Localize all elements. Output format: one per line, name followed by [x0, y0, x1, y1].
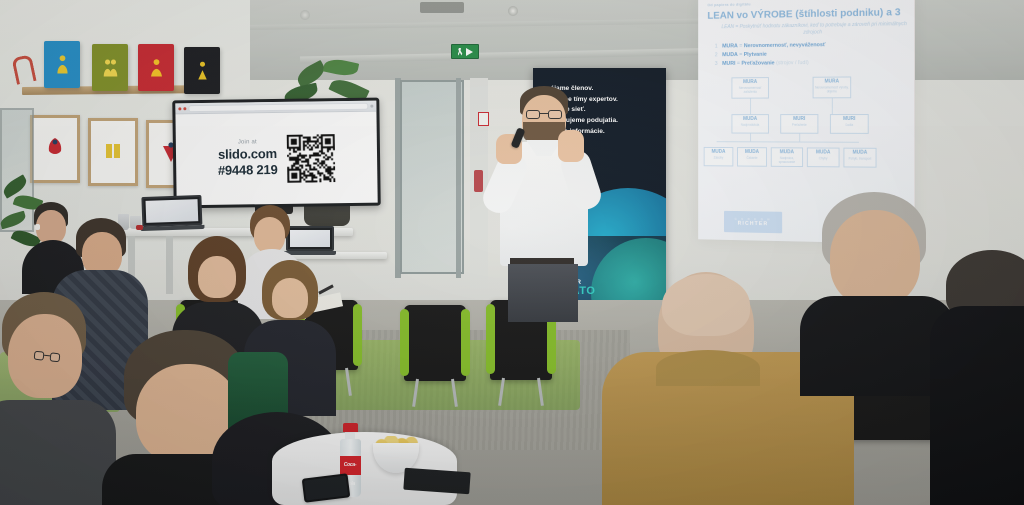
door-frame [456, 78, 461, 278]
bottle-label: Coca-Cola [340, 456, 361, 475]
diagram-box: MUDA Zásoby [704, 147, 734, 167]
glasses-lens [50, 352, 61, 362]
laptop[interactable] [141, 195, 202, 233]
eyeglasses [526, 110, 562, 119]
address-bar[interactable] [188, 102, 368, 112]
diagram-box: MUDA Pohyb, transport [843, 148, 876, 168]
certificate-art-icon [102, 138, 124, 166]
diagram-box-label: MURI [831, 116, 868, 122]
bullet-term: MUDA [722, 52, 738, 58]
diagram-box-detail: Nerovnomernosť zaťaženia [732, 86, 768, 94]
lean-diagram: MURA Nerovnomernosť zaťaženia MURA Nerov… [698, 76, 914, 206]
table-paper [403, 468, 470, 495]
phone-screen [304, 476, 348, 501]
diagram-box: MUDA Nadprodukcia [731, 114, 768, 133]
qr-code[interactable] [287, 134, 336, 183]
award-plaque-black [184, 47, 220, 94]
award-plaque-blue [44, 41, 80, 88]
list-item: 3MURI = Preťažovanie (strojov / ľudí) [715, 58, 908, 69]
diagram-box-detail: Preťaženie [781, 123, 817, 127]
award-plaque-olive [92, 44, 128, 91]
diagram-box-detail: Chyby [808, 156, 839, 160]
diagram-box-label: MURA [732, 79, 768, 85]
richter-logo: G E D E O N RICHTER [724, 211, 782, 233]
glass-door [400, 80, 464, 274]
earbud-icon [35, 224, 40, 230]
chair-green-edge [353, 304, 362, 366]
bottle-neck [345, 432, 355, 439]
diagram-box: MURA Nerovnomernosť výroby, objemu [813, 76, 852, 98]
framed-certificate [30, 115, 80, 183]
diagram-connector [717, 141, 859, 143]
glasses-bridge [540, 113, 548, 114]
head [272, 278, 308, 318]
chair-green-edge [461, 309, 470, 376]
diagram-connector [750, 99, 751, 115]
diagram-box: MUDA Čakanie [737, 147, 767, 167]
slide-title: LEAN vo VÝROBE (štíhlosti podniku) a 3 [707, 6, 908, 22]
chair-green-edge [400, 309, 409, 376]
tab-indicator-icon [183, 107, 186, 110]
glasses-lens [548, 110, 562, 119]
glasses-lens [526, 110, 540, 119]
slide-subtitle: LEAN = Poskytnúť hodnotu zákazníkovi, ke… [707, 21, 908, 38]
bullet-term: MURI [722, 61, 735, 67]
diagram-connector [750, 134, 751, 142]
hand-right [558, 130, 584, 162]
award-figure-icon [54, 54, 71, 76]
award-figure-icon [102, 57, 119, 79]
head [198, 256, 236, 298]
audience-member-foreground [0, 292, 106, 505]
fire-safety-sign [478, 112, 489, 126]
torso [930, 306, 1024, 505]
bullet-note: (strojov / ľudí) [776, 60, 809, 66]
slido-event-code: #9448 219 [218, 163, 278, 179]
ceiling-light [508, 6, 518, 16]
trousers [508, 264, 578, 322]
diagram-box: MURA Nerovnomernosť zaťaženia [731, 77, 768, 99]
diagram-box: MUDA Chyby [807, 147, 840, 167]
laptop-screen [146, 199, 199, 223]
diagram-box: MURI Preťaženie [780, 114, 818, 134]
diagram-box-label: MURA [814, 78, 851, 84]
diagram-box-detail: Čakanie [738, 156, 766, 160]
bullet-text: Plytvanie [744, 52, 767, 58]
slido-slide: Join at slido.com #9448 219 [175, 112, 377, 206]
audience-member-foreground [806, 192, 946, 392]
tab-indicator-icon [178, 107, 181, 110]
head [830, 210, 920, 306]
exit-sign [451, 44, 479, 59]
bullet-text: Preťažovanie [741, 60, 774, 66]
diagram-box-label: MUDA [844, 150, 875, 156]
diagram-box-detail: Zásoby [705, 156, 733, 160]
diagram-box-detail: Ľudia [831, 123, 868, 127]
bullet-number: 1 [715, 43, 722, 52]
certificate-art-icon [44, 135, 66, 163]
photo-scene: Join at slido.com #9448 219 Od papiera d… [0, 0, 1024, 505]
diagram-box: MURI Ľudia [830, 114, 869, 134]
ceiling-vent [420, 2, 464, 13]
ceiling-light [300, 10, 310, 20]
bullet-number: 2 [715, 51, 722, 60]
bullet-number: 3 [715, 60, 722, 69]
chair-back [404, 305, 466, 381]
slido-join-text: Join at slido.com #9448 219 [217, 139, 277, 179]
bald-scalp [662, 274, 750, 336]
diagram-box-label: MUDA [772, 149, 802, 155]
diagram-box-label: MUDA [705, 149, 733, 155]
award-figure-icon [148, 57, 165, 79]
torso [0, 400, 116, 505]
diagram-box-detail: Nadpráca, spracovanie [772, 156, 802, 164]
audience-member-foreground [940, 250, 1024, 505]
glasses-lens [34, 351, 45, 361]
bullet-text: Nerovnomernosť, nevyváženosť [744, 42, 826, 49]
diagram-box-detail: Pohyb, transport [844, 157, 875, 161]
laptop-base [140, 225, 205, 231]
diagram-box-label: MURI [781, 116, 817, 122]
logo-bottom-text: RICHTER [738, 221, 769, 227]
presenter [492, 86, 596, 322]
diagram-box-detail: Nerovnomernosť výroby, objemu [814, 85, 851, 93]
diagram-box-label: MUDA [808, 149, 839, 155]
bullet-term: MURA [722, 43, 738, 49]
monitor-screen: Join at slido.com #9448 219 [175, 101, 377, 206]
chair[interactable] [404, 305, 466, 381]
bottle-cap [343, 423, 358, 432]
award-plaque-red [138, 44, 174, 91]
tv-monitor[interactable]: Join at slido.com #9448 219 [172, 98, 380, 209]
diagram-connector [832, 98, 833, 114]
framed-certificate [88, 118, 138, 186]
slide-bullet-list: 1MURA = Nerovnomernosť, nevyváženosť 2MU… [707, 40, 908, 69]
diagram-box-label: MUDA [738, 149, 766, 155]
diagram-connector [799, 134, 800, 142]
bullet-eq: = [739, 52, 742, 58]
laptop-lid [141, 195, 202, 227]
bullet-eq: = [739, 43, 742, 49]
diagram-box-label: MUDA [732, 116, 768, 122]
diagram-box: MUDA Nadpráca, spracovanie [771, 147, 803, 167]
award-figure-icon [194, 60, 211, 82]
bullet-eq: = [737, 61, 740, 67]
blazer-collar [656, 350, 760, 386]
fire-extinguisher [474, 170, 483, 192]
tab-indicator-icon [370, 104, 373, 107]
arrow-right-icon [466, 48, 473, 56]
slido-domain: slido.com [218, 147, 278, 163]
diagram-box-detail: Nadprodukcia [732, 123, 768, 127]
running-man-icon [458, 48, 463, 56]
